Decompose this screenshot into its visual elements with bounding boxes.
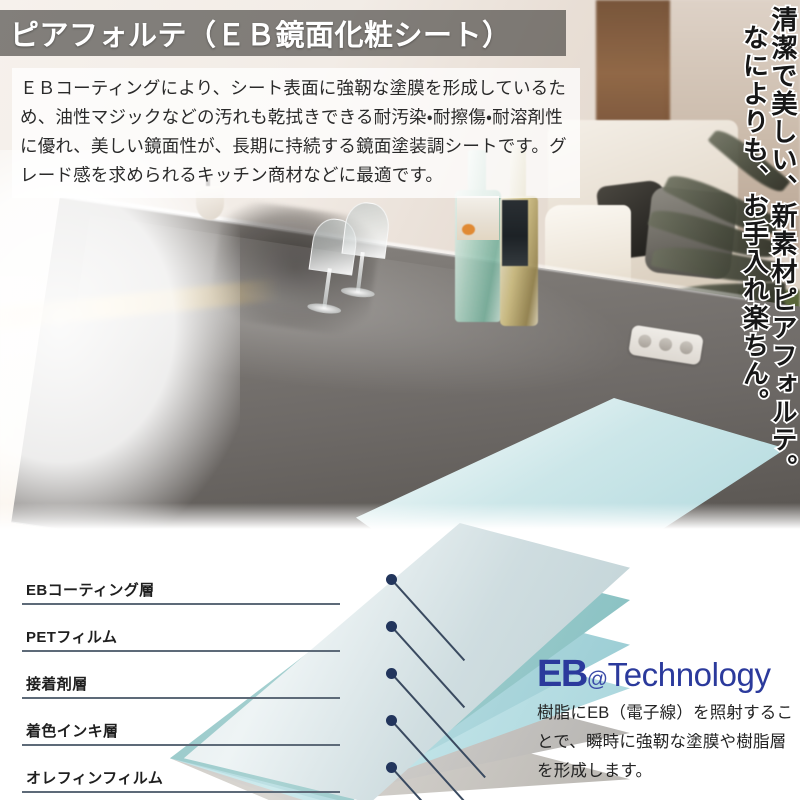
layer-label-pet-film: PETフィルム — [26, 626, 117, 647]
description-block: ＥＢコーティングにより、シート表面に強靭な塗膜を形成しているため、油性マジックな… — [12, 68, 580, 198]
page-title-bar: ピアフォルテ（ＥＢ鏡面化粧シート） — [0, 10, 566, 56]
layer-label-adhesive: 接着剤層 — [26, 673, 88, 694]
leader-dot — [386, 762, 397, 773]
leader-dot — [386, 668, 397, 679]
catch-copy: 清潔で美しい、新素材ピアフォルテ。 なによりも、お手入れ楽ちん。 — [741, 6, 796, 410]
layer-structure-diagram: EBコーティング層 PETフィルム 接着剤層 着色インキ層 オレフィンフィルム … — [0, 529, 800, 800]
layer-rule — [22, 791, 340, 793]
eb-technology-description: 樹脂にEB（電子線）を照射することで、瞬時に強靭な塗膜や樹脂層を形成します。 — [537, 699, 795, 786]
layer-rule — [22, 650, 340, 652]
layer-rule — [22, 697, 340, 699]
layer-label-olefin-film: オレフィンフィルム — [26, 767, 163, 788]
page-title: ピアフォルテ（ＥＢ鏡面化粧シート） — [0, 12, 512, 54]
eb-technology-logo: EB@Technology — [537, 655, 795, 693]
bottle-label-mark — [462, 224, 475, 235]
at-symbol-icon: @ — [587, 668, 608, 691]
eb-logo-wordmark: Technology — [608, 656, 771, 693]
layer-label-eb-coating: EBコーティング層 — [26, 579, 155, 600]
leader-dot — [386, 621, 397, 632]
layer-label-ink: 着色インキ層 — [26, 720, 118, 741]
description-text: ＥＢコーティングにより、シート表面に強靭な塗膜を形成しているため、油性マジックな… — [20, 74, 572, 190]
layer-rule — [22, 744, 340, 746]
product-info-page: ピアフォルテ（ＥＢ鏡面化粧シート） ＥＢコーティングにより、シート表面に強靭な塗… — [0, 0, 800, 800]
layer-rule — [22, 603, 340, 605]
left-light-wash — [0, 150, 240, 529]
catch-copy-line-2: なによりも、お手入れ楽ちん。 — [741, 24, 768, 364]
eb-technology-block: EB@Technology 樹脂にEB（電子線）を照射することで、瞬時に強靭な塗… — [537, 655, 795, 786]
leader-dot — [386, 715, 397, 726]
catch-copy-line-1: 清潔で美しい、新素材ピアフォルテ。 — [769, 6, 796, 410]
bottle-label — [502, 200, 528, 266]
leader-dot — [386, 574, 397, 585]
eb-logo-mark: EB — [537, 653, 587, 695]
